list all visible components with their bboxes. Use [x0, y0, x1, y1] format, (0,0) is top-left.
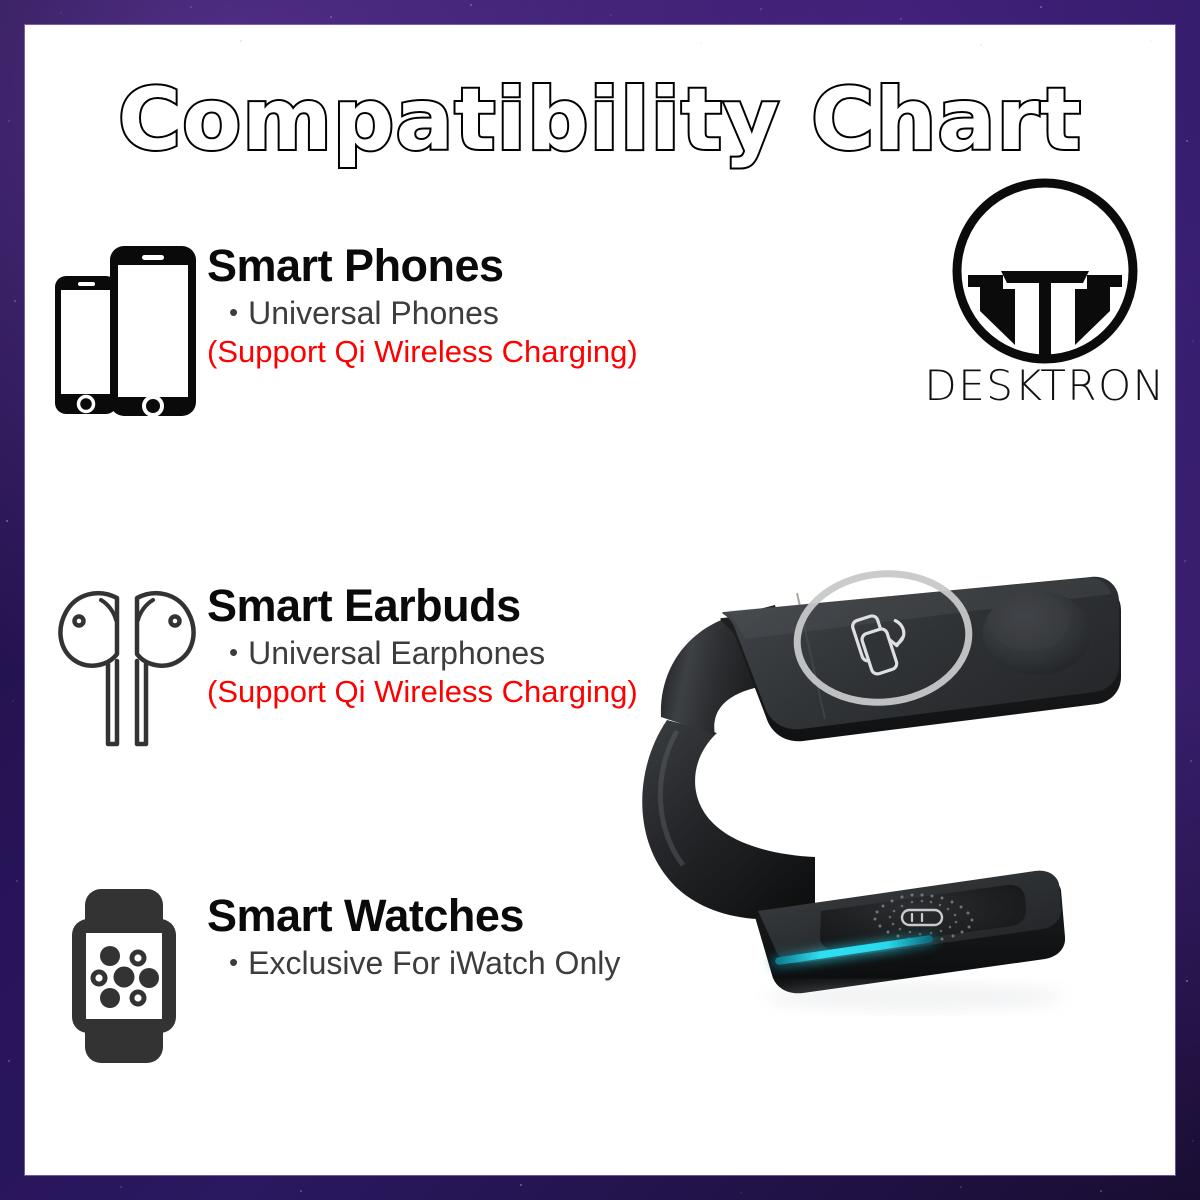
frame-speck — [1192, 1140, 1194, 1142]
frame-speck — [14, 300, 16, 302]
frame-speck — [470, 4, 472, 6]
feature-bullet-label: Exclusive For iWatch Only — [248, 945, 620, 981]
watch-charging-puck — [983, 591, 1091, 675]
feature-bullet-label: Universal Phones — [248, 295, 499, 331]
frame-speck — [760, 8, 762, 10]
feature-text-smart-phones: Smart Phones •Universal Phones (Support … — [207, 230, 638, 370]
feature-title: Smart Phones — [207, 242, 638, 289]
frame-speck — [1186, 980, 1188, 982]
frame-speck — [300, 1190, 302, 1192]
smartwatch-icon — [47, 880, 207, 1070]
poster-frame: Compatibility Chart DESKTRON — [0, 0, 1200, 1200]
frame-speck — [8, 1060, 10, 1062]
frame-speck — [610, 14, 612, 16]
brand-name: DESKTRON — [920, 365, 1170, 407]
earbuds-icon — [47, 570, 207, 770]
feature-text-smart-earbuds: Smart Earbuds •Universal Earphones (Supp… — [207, 570, 638, 710]
frame-speck — [330, 16, 332, 18]
brand-logo: DESKTRON — [920, 175, 1170, 425]
smartphones-icon — [47, 230, 207, 430]
frame-speck — [520, 1184, 522, 1186]
feature-row-smart-phones: Smart Phones •Universal Phones (Support … — [47, 230, 638, 430]
bullet-glyph: • — [229, 637, 238, 667]
frame-speck — [1040, 6, 1042, 8]
frame-speck — [900, 18, 902, 20]
feature-title: Smart Earbuds — [207, 582, 638, 629]
frame-speck — [8, 120, 10, 122]
feature-note: (Support Qi Wireless Charging) — [207, 334, 638, 370]
frame-speck — [1100, 1190, 1102, 1192]
poster-card: Compatibility Chart DESKTRON — [25, 25, 1175, 1175]
feature-text-smart-watches: Smart Watches •Exclusive For iWatch Only — [207, 880, 620, 984]
frame-speck — [190, 6, 192, 8]
bullet-glyph: • — [229, 947, 238, 977]
feature-bullet: •Universal Earphones — [229, 635, 638, 672]
page-title: Compatibility Chart — [25, 77, 1175, 163]
frame-speck — [60, 12, 62, 14]
feature-note: (Support Qi Wireless Charging) — [207, 674, 638, 710]
feature-title: Smart Watches — [207, 892, 620, 939]
frame-speck — [12, 700, 14, 702]
frame-speck — [16, 880, 18, 882]
frame-speck — [1192, 340, 1194, 342]
desktron-monogram-icon — [941, 175, 1149, 371]
feature-bullet: •Universal Phones — [229, 295, 638, 332]
feature-row-smart-watches: Smart Watches •Exclusive For iWatch Only — [47, 880, 620, 1070]
frame-speck — [960, 1186, 962, 1188]
feature-bullet-label: Universal Earphones — [248, 635, 545, 671]
frame-speck — [120, 1186, 122, 1188]
feature-bullet: •Exclusive For iWatch Only — [229, 945, 620, 982]
feature-row-smart-earbuds: Smart Earbuds •Universal Earphones (Supp… — [47, 570, 638, 770]
frame-speck — [1190, 760, 1192, 762]
frame-speck — [1184, 560, 1186, 562]
frame-speck — [740, 1192, 742, 1194]
bullet-glyph: • — [229, 297, 238, 327]
product-image-charging-stand — [625, 505, 1175, 1025]
frame-speck — [1186, 140, 1188, 142]
frame-speck — [6, 520, 8, 522]
